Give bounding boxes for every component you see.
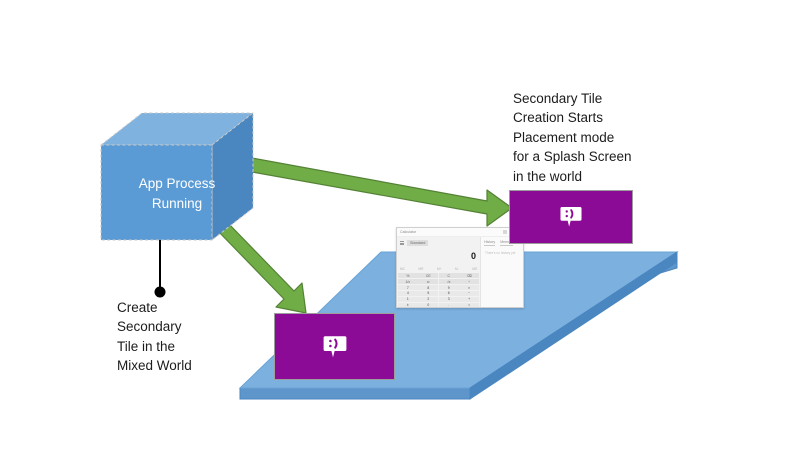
calculator-key[interactable]: + — [459, 297, 479, 302]
calculator-memory-row: MC MR M+ M- MS — [400, 267, 477, 271]
memory-button[interactable]: M- — [455, 267, 459, 271]
tile-near[interactable] — [274, 313, 395, 380]
memory-button[interactable]: MS — [472, 267, 477, 271]
calculator-key[interactable]: 6 — [439, 291, 459, 296]
calculator-key[interactable]: x² — [418, 279, 438, 284]
calculator-key[interactable]: 8 — [418, 285, 438, 290]
secondary-tile-note: Secondary Tile Creation Starts Placement… — [513, 89, 673, 186]
calculator-titlebar[interactable]: Calculator — [397, 228, 523, 237]
calculator-body: Standard 0 MC MR M+ M- MS %CEC⌫1/xx²√x÷7… — [397, 237, 523, 308]
calculator-key[interactable]: ÷ — [459, 279, 479, 284]
hamburger-menu-icon[interactable] — [400, 241, 404, 245]
calculator-key[interactable]: 5 — [418, 291, 438, 296]
calculator-key[interactable]: × — [459, 285, 479, 290]
platform-front-edge — [240, 388, 470, 399]
calculator-key[interactable]: 1/x — [398, 279, 418, 284]
messaging-smiley-icon — [322, 334, 348, 360]
arrow-to-far-tile — [252, 158, 512, 226]
create-secondary-note: Create Secondary Tile in the Mixed World — [117, 298, 227, 376]
calculator-key[interactable]: 4 — [398, 291, 418, 296]
calculator-key[interactable]: = — [459, 303, 479, 308]
calculator-history-pane: History Memory There's no history yet — [481, 237, 523, 308]
calculator-keypad-pane: Standard 0 MC MR M+ M- MS %CEC⌫1/xx²√x÷7… — [397, 237, 481, 308]
calculator-keys-grid: %CEC⌫1/xx²√x÷789×456−123+±0.= — [398, 273, 479, 308]
callout-leader — [155, 240, 166, 298]
calculator-key[interactable]: ± — [398, 303, 418, 308]
calculator-mode-row: Standard — [400, 240, 428, 246]
memory-button[interactable]: MR — [418, 267, 423, 271]
calculator-display: 0 — [471, 251, 476, 261]
calculator-key[interactable]: . — [439, 303, 459, 308]
calculator-key[interactable]: − — [459, 291, 479, 296]
memory-button[interactable]: MC — [400, 267, 405, 271]
cube-front-face — [101, 145, 212, 240]
diagram-canvas: App Process Running Calculator Standard … — [0, 0, 800, 450]
scene-vector-layer — [0, 0, 800, 450]
calculator-key[interactable]: 2 — [418, 297, 438, 302]
calculator-key[interactable]: CE — [418, 273, 438, 278]
calculator-key[interactable]: 3 — [439, 297, 459, 302]
calculator-key[interactable]: % — [398, 273, 418, 278]
calculator-window[interactable]: Calculator Standard 0 MC MR — [396, 227, 524, 308]
calculator-mode-label: Standard — [407, 240, 428, 246]
calculator-key[interactable]: √x — [439, 279, 459, 284]
arrow-to-near-tile — [217, 222, 306, 313]
messaging-smiley-icon — [559, 205, 583, 229]
app-process-cube — [101, 113, 253, 240]
minimize-button[interactable] — [503, 230, 507, 234]
tab-history[interactable]: History — [484, 240, 495, 246]
calculator-key[interactable]: 7 — [398, 285, 418, 290]
calculator-key[interactable]: 1 — [398, 297, 418, 302]
memory-button[interactable]: M+ — [437, 267, 442, 271]
callout-dot — [155, 287, 166, 298]
tile-far[interactable] — [509, 190, 633, 244]
calculator-key[interactable]: 9 — [439, 285, 459, 290]
calculator-key[interactable]: 0 — [418, 303, 438, 308]
calculator-title: Calculator — [400, 229, 416, 236]
history-empty-text: There's no history yet — [485, 251, 520, 255]
calculator-key[interactable]: C — [439, 273, 459, 278]
calculator-key[interactable]: ⌫ — [459, 273, 479, 278]
